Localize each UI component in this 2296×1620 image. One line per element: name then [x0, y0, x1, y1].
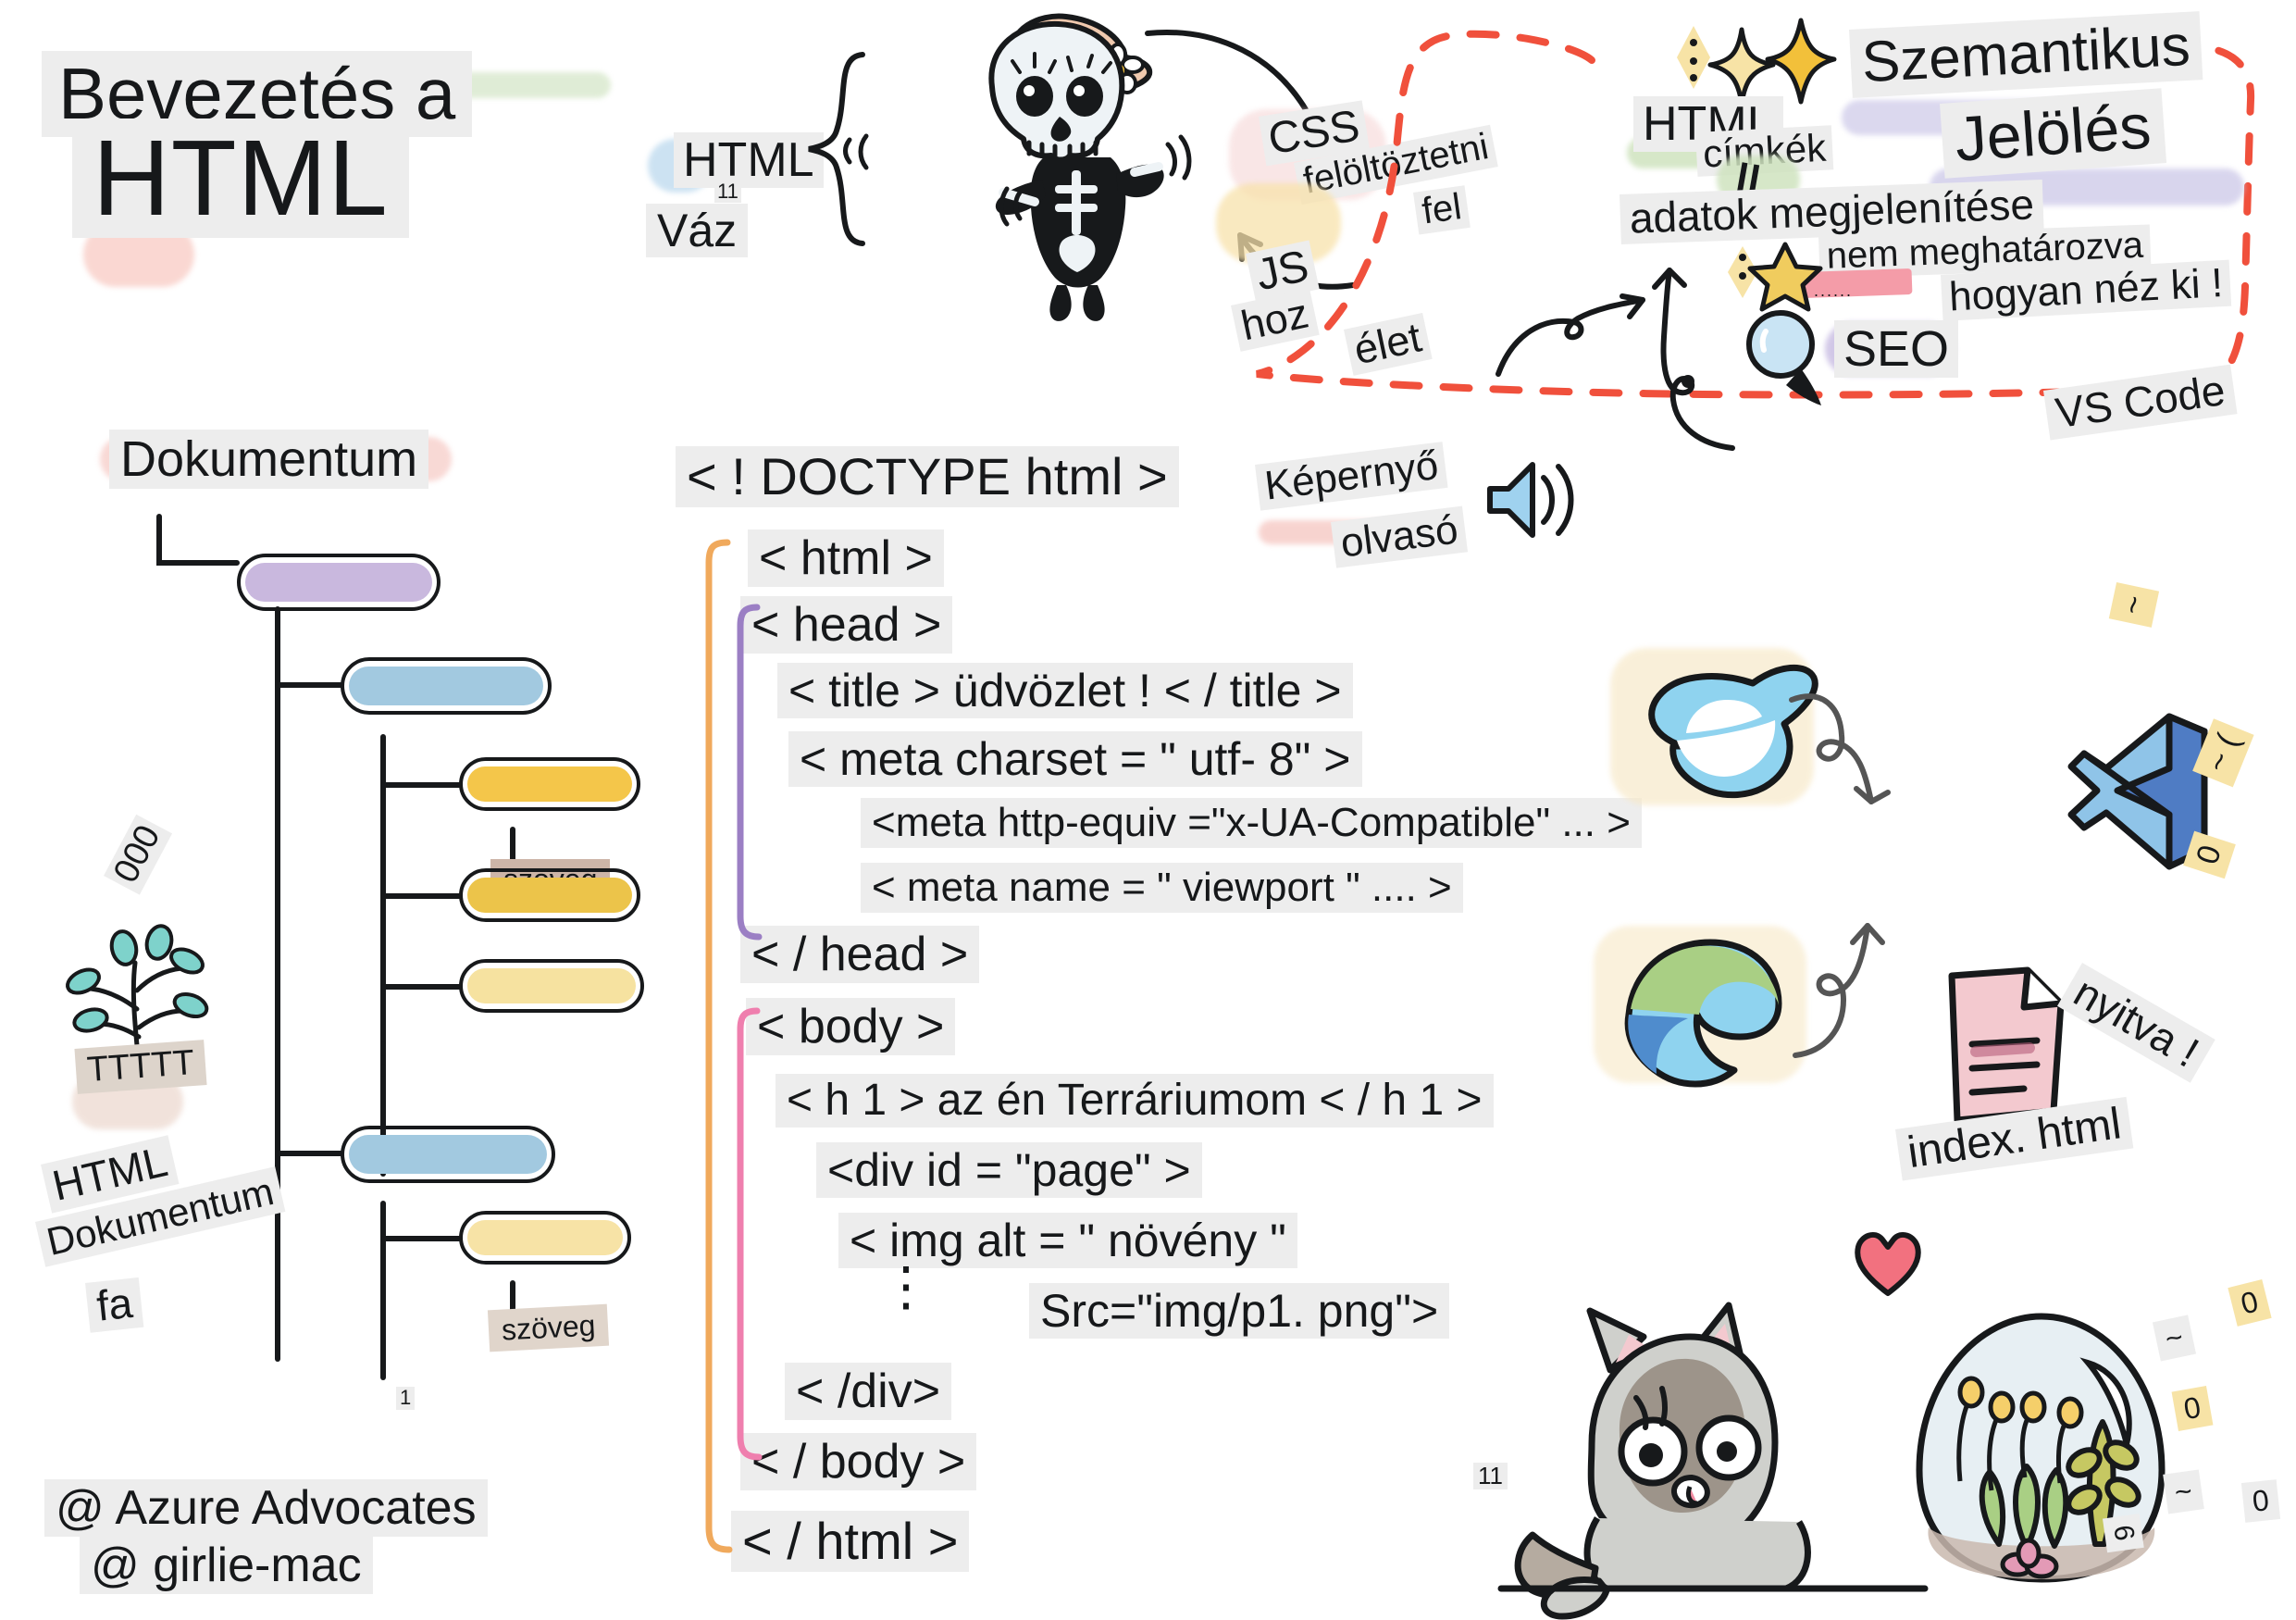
tree-node-meta-1-fill [467, 878, 632, 913]
credits-line2: @ girlie-mac [80, 1537, 373, 1594]
code-line-head-close: < / head > [740, 926, 979, 983]
tree-node-head-fill [349, 667, 543, 705]
code-line-div-close: < /div> [785, 1363, 951, 1420]
code-line-img-src: Src="img/p1. png"> [1029, 1283, 1449, 1339]
code-ellipsis: ⋮ [879, 1268, 933, 1306]
code-line-title: < title > üdvözlet ! < / title > [777, 663, 1353, 718]
sketchnote-canvas: Bevezetés a HTML HTML 11 Váz #1 [0, 0, 2296, 1619]
code-line-meta-charset: < meta charset = " utf- 8" > [788, 731, 1362, 787]
code-line-meta-http-equiv: <meta http-equiv ="x-UA-Compatible" ... … [861, 798, 1642, 848]
cat-small-number: 11 [1473, 1463, 1508, 1489]
arrow-curly-to-adatok [1495, 278, 1661, 380]
code-line-body-open: < body > [746, 998, 955, 1055]
code-bracket-head [731, 602, 768, 946]
sticker-d-label: ~ [2162, 1319, 2186, 1355]
speaker-icon [1479, 454, 1590, 546]
code-line-h1: < h 1 > az én Terráriumom < / h 1 > [776, 1074, 1494, 1128]
skeleton-html-superscript: 11 [714, 181, 741, 203]
tree-node-meta-1[interactable]: <meta> [459, 868, 640, 922]
tree-node-html-fill [245, 563, 432, 602]
code-line-meta-viewport: < meta name = " viewport " .... > [861, 863, 1463, 913]
tree-caption-line3: fa [85, 1277, 144, 1333]
code-line-head-open: < head > [740, 596, 952, 654]
sticker-g: ~ [2163, 1470, 2203, 1514]
tree-node-h1-fill [467, 1220, 623, 1255]
sticker-g-label: ~ [2173, 1474, 2195, 1509]
skeleton-vaz-label: Váz [646, 204, 748, 257]
sticker-b-label: 0 [2190, 841, 2228, 868]
tree-heading: Dokumentum [109, 430, 428, 489]
sticker-f-label: 0 [2181, 1390, 2203, 1427]
tree-node-title[interactable]: <title> [459, 757, 640, 811]
sticker-c-label: ~ [2115, 592, 2153, 617]
tree-node-html[interactable]: <html> [237, 554, 441, 611]
sticker-h: 0 [2241, 1479, 2280, 1523]
sticker-e-label: 0 [2238, 1284, 2262, 1320]
nyitva-label: nyitva ! [2057, 963, 2215, 1082]
sticker-e: 0 [2228, 1279, 2271, 1327]
tree-leaf-h1-text: szöveg [488, 1304, 610, 1352]
code-bracket-body [731, 1005, 768, 1468]
page-title-line2: HTML [72, 118, 409, 238]
arrow-edge-to-vscode [1786, 889, 1962, 1065]
code-line-doctype: < ! DOCTYPE html > [676, 446, 1179, 507]
tree-leaf-h1-text-label: szöveg [501, 1308, 596, 1346]
sticker-f: 0 [2172, 1386, 2214, 1431]
code-line-html-open: < html > [748, 530, 944, 587]
tree-node-body-fill [349, 1135, 547, 1174]
tree-node-meta-2-fill [467, 968, 636, 1003]
sticker-i-label: 6 [2107, 1523, 2140, 1542]
code-line-html-close: < / html > [731, 1511, 969, 1572]
plant-pot-label: TTTTT [74, 1040, 206, 1094]
credits-line1: @ Azure Advocates [44, 1479, 488, 1537]
sticker-h-label: 0 [2251, 1483, 2270, 1518]
screen-reader-line2: olvasó [1331, 506, 1468, 568]
semantic-heading2: Jelölés [1940, 88, 2166, 178]
edge-icon [1610, 926, 1795, 1102]
tree-node-meta-2[interactable]: < meta> [459, 959, 644, 1013]
html-document-icon [1939, 963, 2078, 1129]
tree-node-body[interactable]: < body > [341, 1126, 555, 1183]
sticker-a-label: ~ ( [2200, 729, 2246, 777]
semantic-seo-label: SEO [1834, 320, 1958, 378]
tree-leaf-marker: 1 [396, 1387, 415, 1410]
arrow-ie-to-vscode [1788, 685, 1973, 833]
sticker-c: ~ [2109, 582, 2159, 628]
sticker-i: 6 [2103, 1514, 2144, 1552]
tree-node-title-fill [467, 766, 632, 802]
tree-node-head[interactable]: < head > [341, 657, 552, 715]
code-line-body-close: < / body > [740, 1433, 976, 1490]
tree-node-h1[interactable]: <h1> [459, 1211, 631, 1265]
screen-reader-line1: Képernyő [1255, 442, 1448, 510]
terrarium-illustration [1888, 1296, 2193, 1611]
magnifier-icon [1740, 305, 1842, 417]
code-line-div-open: <div id = "page" > [816, 1142, 1202, 1198]
